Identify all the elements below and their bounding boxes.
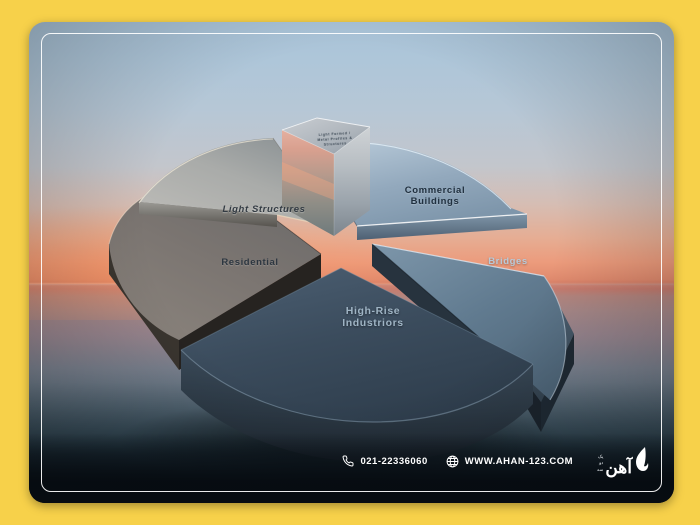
logo-line-3: سه xyxy=(597,467,603,474)
website-contact[interactable]: WWW.AHAN-123.COM xyxy=(446,455,573,468)
poster-panel: Commercial Buildings Bridges High-Rise I… xyxy=(29,22,674,503)
logo-wordmark: آهن xyxy=(605,459,632,477)
logo-flame-icon xyxy=(634,446,650,477)
phone-number: 021-22336060 xyxy=(360,456,427,467)
website-url: WWW.AHAN-123.COM xyxy=(465,456,573,467)
poster-frame: Commercial Buildings Bridges High-Rise I… xyxy=(0,0,700,525)
logo-subtext: یک دو سه xyxy=(597,454,603,477)
phone-icon xyxy=(342,455,354,467)
phone-contact[interactable]: 021-22336060 xyxy=(342,455,427,467)
ahan-123-logo[interactable]: یک دو سه آهن xyxy=(597,446,650,477)
logo-line-1: یک xyxy=(597,454,603,461)
logo-line-2: دو xyxy=(597,460,603,467)
footer-bar: 021-22336060 WWW.AHAN-123.COM یک دو xyxy=(29,433,674,503)
pie-chart-stage: Commercial Buildings Bridges High-Rise I… xyxy=(29,22,674,503)
pie-chart-3d xyxy=(29,22,674,503)
globe-icon xyxy=(446,455,459,468)
